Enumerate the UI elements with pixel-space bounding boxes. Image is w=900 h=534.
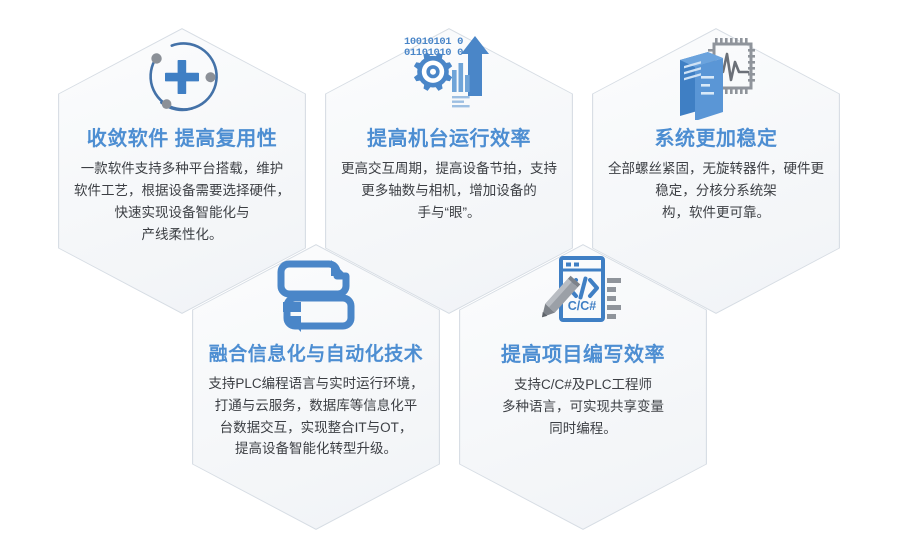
icon-container-4 (182, 244, 450, 336)
atom-plus-icon (139, 34, 225, 120)
icon-container-5: C/C# (459, 244, 707, 336)
card-title-5: 提高项目编写效率 (501, 344, 665, 367)
card-title-4: 融合信息化与自动化技术 (209, 344, 424, 366)
card-title-2: 提高机台运行效率 (367, 128, 531, 151)
server-box-shape (680, 52, 723, 120)
data-exchange-bubbles-icon (275, 258, 357, 336)
card-body-line: 一款软件支持多种平台搭载，维护 (58, 158, 306, 180)
card-body-4: 支持PLC编程语言与实时运行环境， 打通与云服务，数据库等信息化平 台数据交互，… (182, 373, 450, 460)
card-body-line: 支持C/C#及PLC工程师 (459, 374, 707, 396)
card-body-3: 全部螺丝紧固，无旋转器件，硬件更 稳定，分核分系统架 构，软件更可靠。 (592, 158, 840, 224)
card-body-line: 稳定，分核分系统架 (592, 180, 840, 202)
card-body-line: 更高交互周期，提高设备节拍，支持 (325, 158, 573, 180)
infographic-stage: 收敛软件 提高复用性 一款软件支持多种平台搭载，维护 软件工艺，根据设备需要选择… (0, 0, 900, 534)
code-window-pencil-icon: C/C# (537, 254, 629, 336)
icon-container-2: 10010101 0 01101010 0 (325, 28, 573, 120)
server-cpu-waveform-icon (670, 32, 762, 120)
feature-card-it-ot-convergence: 融合信息化与自动化技术 支持PLC编程语言与实时运行环境， 打通与云服务，数据库… (182, 244, 450, 530)
gear-binary-chart-arrow-icon: 10010101 0 01101010 0 (401, 30, 497, 120)
icon-container-1 (58, 28, 306, 120)
card-body-line: 同时编程。 (459, 418, 707, 440)
card-title-3: 系统更加稳定 (655, 128, 778, 151)
card-body-1: 一款软件支持多种平台搭载，维护 软件工艺，根据设备需要选择硬件， 快速实现设备智… (58, 158, 306, 245)
bar-chart-shape (452, 63, 470, 107)
card-body-line: 手与“眼”。 (325, 202, 573, 224)
card-body-2: 更高交互周期，提高设备节拍，支持 更多轴数与相机，增加设备的 手与“眼”。 (325, 158, 573, 224)
feature-card-project-authoring: C/C# 提高项目编写效率 (459, 244, 707, 530)
code-language-label: C/C# (568, 299, 597, 313)
card-body-line: 全部螺丝紧固，无旋转器件，硬件更 (592, 158, 840, 180)
card-body-line: 产线柔性化。 (58, 224, 306, 246)
card-body-line: 构，软件更可靠。 (592, 202, 840, 224)
card-body-line: 台数据交互，实现整合IT与OT， (182, 417, 450, 439)
card-body-line: 软件工艺，根据设备需要选择硬件， (58, 180, 306, 202)
card-title-1: 收敛软件 提高复用性 (87, 128, 278, 151)
card-body-line: 快速实现设备智能化与 (58, 202, 306, 224)
icon-container-3 (592, 28, 840, 120)
card-body-line: 多种语言，可实现共享变量 (459, 396, 707, 418)
card-body-line: 打通与云服务，数据库等信息化平 (182, 395, 450, 417)
card-body-line: 支持PLC编程语言与实时运行环境， (182, 373, 450, 395)
card-body-line: 提高设备智能化转型升级。 (182, 438, 450, 460)
code-side-lines (607, 278, 621, 319)
card-body-5: 支持C/C#及PLC工程师 多种语言，可实现共享变量 同时编程。 (459, 374, 707, 440)
card-body-line: 更多轴数与相机，增加设备的 (325, 180, 573, 202)
